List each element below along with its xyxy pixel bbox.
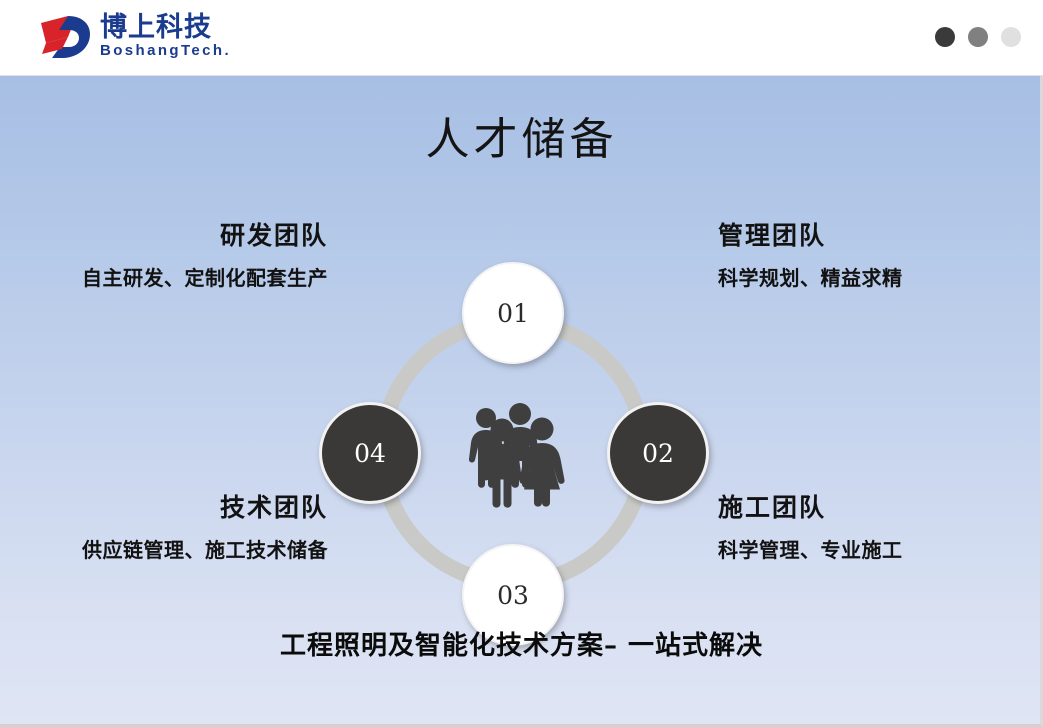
corner-block-construction: 施工团队 科学管理、专业施工 — [718, 488, 903, 563]
node-01-label: 01 — [497, 299, 529, 328]
corner-subtext-management: 科学规划、精益求精 — [718, 262, 903, 291]
node-01[interactable]: 01 — [462, 262, 564, 364]
corner-heading-rnd: 研发团队 — [82, 216, 328, 252]
corner-heading-technical: 技术团队 — [82, 488, 328, 524]
node-03-label: 03 — [497, 581, 529, 610]
corner-block-rnd: 研发团队 自主研发、定制化配套生产 — [82, 216, 328, 291]
node-02[interactable]: 02 — [607, 402, 709, 504]
boshang-logo-mark-icon — [38, 13, 94, 61]
page-indicator-dots — [935, 27, 1021, 47]
slide-header: 博上科技 BoshangTech. — [0, 0, 1043, 76]
logo-chinese-name: 博上科技 — [100, 14, 231, 42]
page-dot-1[interactable] — [935, 27, 955, 47]
page-dot-3[interactable] — [1001, 27, 1021, 47]
corner-subtext-technical: 供应链管理、施工技术储备 — [82, 534, 328, 563]
slide-tagline: 工程照明及智能化技术方案– 一站式解决 — [0, 625, 1043, 662]
logo-wordmark: 博上科技 BoshangTech. — [100, 14, 231, 59]
logo-english-name: BoshangTech. — [100, 43, 231, 60]
corner-heading-construction: 施工团队 — [718, 488, 903, 524]
corner-heading-management: 管理团队 — [718, 216, 903, 252]
corner-block-management: 管理团队 科学规划、精益求精 — [718, 216, 903, 291]
page-dot-2[interactable] — [968, 27, 988, 47]
node-04-label: 04 — [354, 439, 386, 468]
corner-subtext-construction: 科学管理、专业施工 — [718, 534, 903, 563]
corner-block-technical: 技术团队 供应链管理、施工技术储备 — [82, 488, 328, 563]
corner-subtext-rnd: 自主研发、定制化配套生产 — [82, 262, 328, 291]
company-logo: 博上科技 BoshangTech. — [38, 13, 231, 61]
circular-diagram: 01 02 03 04 — [322, 266, 732, 636]
node-02-label: 02 — [642, 439, 674, 468]
page-title: 人才储备 — [0, 103, 1043, 167]
node-04[interactable]: 04 — [319, 402, 421, 504]
people-group-icon — [457, 396, 569, 508]
slide-body: 人才储备 研发团队 自主研发、定制化配套生产 管理团队 科学规划、精益求精 技术… — [0, 76, 1043, 727]
slide-canvas: 博上科技 BoshangTech. 人才储备 研发团队 自主研发、定制化配套生产… — [0, 0, 1043, 727]
